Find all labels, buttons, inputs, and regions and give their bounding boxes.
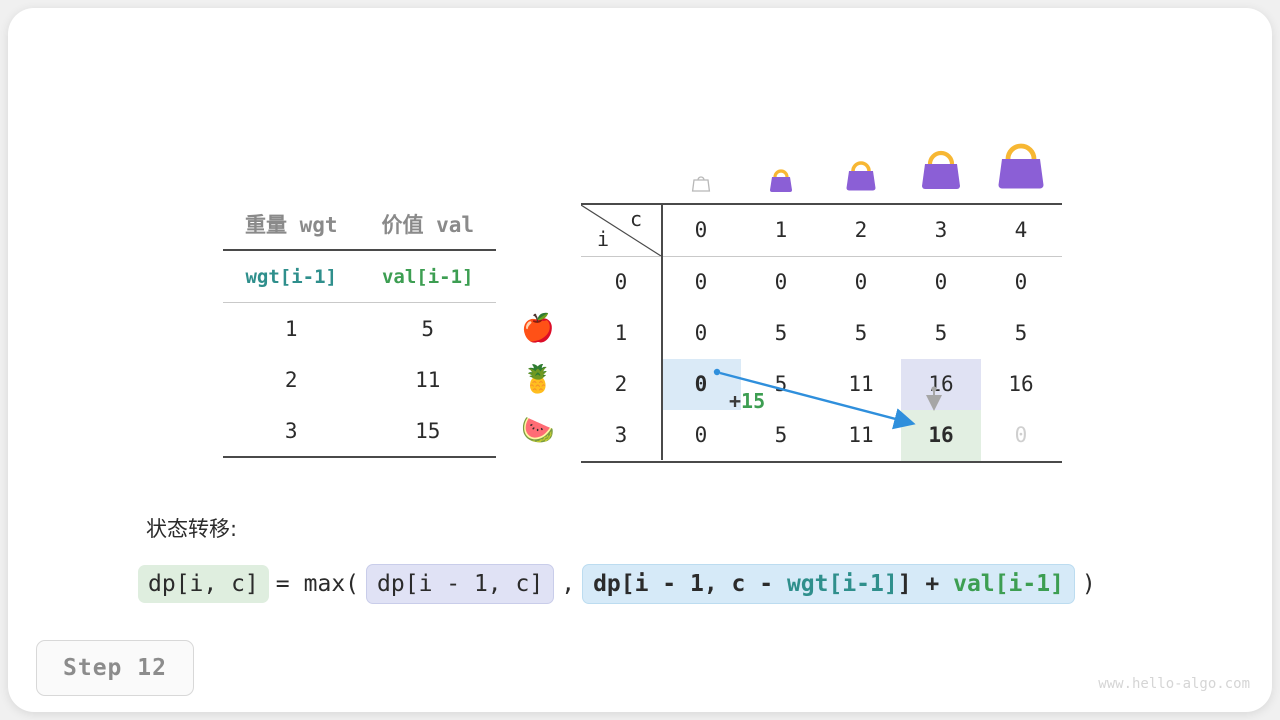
formula-option-take-mid: ] + <box>898 571 953 597</box>
dp-row-1: 1 0 5 5 5 5 <box>581 308 1062 359</box>
formula-option-take-val: val[i-1] <box>953 571 1064 597</box>
dp-cell-1-0: 0 <box>661 308 741 359</box>
items-val-3: 15 <box>360 419 497 443</box>
bag-icon-3 <box>901 144 981 198</box>
dp-cell-1-1: 5 <box>741 308 821 359</box>
items-subheader-wgt: wgt[i-1] <box>223 266 360 288</box>
items-subheader-row: wgt[i-1] val[i-1] <box>223 251 496 302</box>
dp-cell-1-4: 5 <box>981 308 1061 359</box>
items-header-row: 重量 wgt 价值 val <box>223 198 496 249</box>
dp-row-label-0: 0 <box>581 257 661 308</box>
bag-icon-0 <box>661 170 741 198</box>
dp-cell-3-0: 0 <box>661 410 741 461</box>
bag-icon-1 <box>741 162 821 198</box>
dp-corner-cell: c i <box>581 205 661 256</box>
dp-row-label-3: 3 <box>581 410 661 461</box>
dp-col-header-4: 4 <box>981 205 1061 256</box>
dp-cell-3-2: 11 <box>821 410 901 461</box>
dp-col-header-0: 0 <box>661 205 741 256</box>
dp-cell-3-4: 0 <box>981 410 1061 461</box>
dp-cell-0-2: 0 <box>821 257 901 308</box>
dp-cell-3-3: 16 <box>901 410 981 461</box>
dp-cell-1-2: 5 <box>821 308 901 359</box>
items-wgt-2: 2 <box>223 368 360 392</box>
watermark: www.hello-algo.com <box>1098 676 1250 692</box>
items-table: 重量 wgt 价值 val wgt[i-1] val[i-1] 1 5 2 11… <box>223 198 496 458</box>
items-header-val: 价值 val <box>360 209 497 239</box>
dp-cell-2-3: 16 <box>901 359 981 410</box>
pineapple-icon: 🍍 <box>513 354 563 405</box>
dp-cell-3-1: 5 <box>741 410 821 461</box>
items-header-wgt: 重量 wgt <box>223 209 360 239</box>
dp-cell-1-3: 5 <box>901 308 981 359</box>
dp-row-label-2: 2 <box>581 359 661 410</box>
item-icons-column: 🍎 🍍 🍉 <box>513 303 563 456</box>
formula-option-take-wgt: wgt[i-1] <box>787 571 898 597</box>
dp-row-2: 2 0 5 11 16 16 <box>581 359 1062 410</box>
dp-cell-0-4: 0 <box>981 257 1061 308</box>
formula-option-skip: dp[i - 1, c] <box>366 564 554 604</box>
items-subheader-val: val[i-1] <box>360 266 497 288</box>
dp-header-row: c i 0 1 2 3 4 <box>581 205 1062 256</box>
dp-corner-col-label: c <box>630 203 642 235</box>
dp-row-0: 0 0 0 0 0 0 <box>581 257 1062 308</box>
gain-value: 15 <box>741 389 765 413</box>
items-wgt-3: 3 <box>223 419 360 443</box>
formula-equals: = <box>269 571 297 597</box>
formula-close-paren: ) <box>1075 571 1103 597</box>
items-row-1: 1 5 <box>223 303 496 354</box>
bag-icon-4 <box>981 136 1061 198</box>
dp-corner-row-label: i <box>597 223 609 255</box>
formula-comma: , <box>554 571 582 597</box>
formula-target: dp[i, c] <box>138 565 269 603</box>
slide-card: 重量 wgt 价值 val wgt[i-1] val[i-1] 1 5 2 11… <box>8 8 1272 712</box>
dp-table: c i 0 1 2 3 4 0 0 0 0 0 0 1 0 5 5 5 5 2 <box>581 203 1062 463</box>
dp-cell-0-0: 0 <box>661 257 741 308</box>
formula-max-open: max( <box>297 571 366 597</box>
dp-col-header-1: 1 <box>741 205 821 256</box>
bag-capacity-row <box>581 128 1062 198</box>
items-row-3: 3 15 <box>223 405 496 456</box>
dp-rule-bottom <box>581 461 1062 463</box>
dp-cell-0-1: 0 <box>741 257 821 308</box>
dp-row-label-1: 1 <box>581 308 661 359</box>
transition-label: 状态转移: <box>146 513 237 543</box>
dp-col-header-3: 3 <box>901 205 981 256</box>
dp-cell-0-3: 0 <box>901 257 981 308</box>
dp-cell-2-4: 16 <box>981 359 1061 410</box>
step-badge: Step 12 <box>36 640 194 696</box>
dp-vertical-divider <box>661 203 663 460</box>
dp-cell-2-2: 11 <box>821 359 901 410</box>
items-val-2: 11 <box>360 368 497 392</box>
watermelon-icon: 🍉 <box>513 405 563 456</box>
items-row-2: 2 11 <box>223 354 496 405</box>
gain-annotation: +15 <box>729 389 765 413</box>
gain-sign: + <box>729 389 741 413</box>
transition-formula: dp[i, c] = max( dp[i - 1, c] , dp[i - 1,… <box>138 564 1103 604</box>
dp-row-3: 3 0 5 11 16 0 <box>581 410 1062 461</box>
items-val-1: 5 <box>360 317 497 341</box>
dp-col-header-2: 2 <box>821 205 901 256</box>
formula-option-take: dp[i - 1, c - wgt[i-1]] + val[i-1] <box>582 564 1075 604</box>
items-rule-bottom <box>223 456 496 458</box>
bag-icon-2 <box>821 154 901 198</box>
apple-icon: 🍎 <box>513 303 563 354</box>
items-wgt-1: 1 <box>223 317 360 341</box>
formula-option-take-prefix: dp[i - 1, c - <box>593 571 787 597</box>
